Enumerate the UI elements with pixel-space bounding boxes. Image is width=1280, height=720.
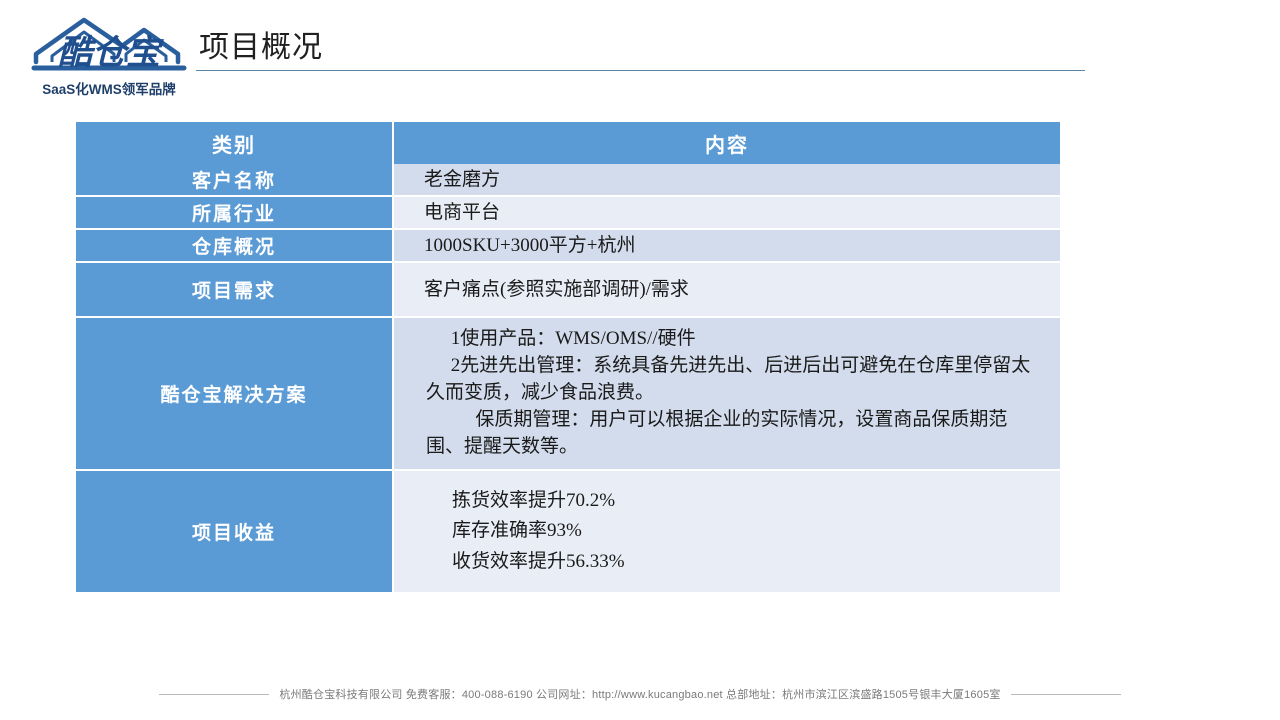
table-row: 项目收益 拣货效率提升70.2% 库存准确率93% 收货效率提升56.33% [76,471,1060,592]
footer: 杭州酷仓宝科技有限公司 免费客服：400-088-6190 公司网址：http:… [0,684,1280,704]
solution-paragraph-3: 保质期管理：用户可以根据企业的实际情况，设置商品保质期范围、提醒天数等。 [426,407,1046,461]
row-value-solution: 1使用产品：WMS/OMS//硬件 2先进先出管理：系统具备先进先出、后进后出可… [394,318,1060,471]
row-value-project-requirements: 客户痛点(参照实施部调研)/需求 [394,263,1060,318]
row-label-project-requirements: 项目需求 [76,263,394,318]
brand-logo: 酷仓宝 SaaS化WMS领军品牌 [26,12,192,100]
table-row: 项目需求 客户痛点(参照实施部调研)/需求 [76,263,1060,318]
table-row: 酷仓宝解决方案 1使用产品：WMS/OMS//硬件 2先进先出管理：系统具备先进… [76,318,1060,471]
column-header-content: 内容 [394,122,1060,164]
row-label-warehouse-overview: 仓库概况 [76,230,394,263]
page-title: 项目概况 [199,28,323,68]
row-label-industry: 所属行业 [76,197,394,230]
footer-contact-text: 杭州酷仓宝科技有限公司 免费客服：400-088-6190 公司网址：http:… [279,686,1000,702]
brand-wordmark: 酷仓宝 [58,34,164,72]
footer-rule-left [159,694,269,695]
benefit-line-receiving: 收货效率提升56.33% [424,547,1046,577]
table-row: 所属行业 电商平台 [76,197,1060,230]
warehouse-house-logo-icon: 酷仓宝 [26,12,192,78]
solution-paragraph-1: 1使用产品：WMS/OMS//硬件 [426,326,1046,353]
row-value-customer-name: 老金磨方 [394,164,1060,197]
title-underline [196,70,1085,71]
table-row: 仓库概况 1000SKU+3000平方+杭州 [76,230,1060,263]
row-value-industry: 电商平台 [394,197,1060,230]
brand-tagline: SaaS化WMS领军品牌 [26,78,192,98]
row-value-benefits: 拣货效率提升70.2% 库存准确率93% 收货效率提升56.33% [394,471,1060,592]
benefit-line-inventory-accuracy: 库存准确率93% [424,516,1046,546]
row-value-warehouse-overview: 1000SKU+3000平方+杭州 [394,230,1060,263]
footer-rule-right [1011,694,1121,695]
slide-root: 酷仓宝 SaaS化WMS领军品牌 项目概况 类别 内容 客户名称 老金磨方 所属… [0,0,1280,720]
solution-paragraph-2: 2先进先出管理：系统具备先进先出、后进后出可避免在仓库里停留太久而变质，减少食品… [426,353,1046,407]
column-header-category: 类别 [76,122,394,164]
row-label-benefits: 项目收益 [76,471,394,592]
table-row: 客户名称 老金磨方 [76,164,1060,197]
row-label-customer-name: 客户名称 [76,164,394,197]
table-header-row: 类别 内容 [76,122,1060,164]
project-overview-table: 类别 内容 客户名称 老金磨方 所属行业 电商平台 仓库概况 1000SKU+3… [76,122,1060,592]
benefit-line-picking: 拣货效率提升70.2% [424,486,1046,516]
row-label-solution: 酷仓宝解决方案 [76,318,394,471]
